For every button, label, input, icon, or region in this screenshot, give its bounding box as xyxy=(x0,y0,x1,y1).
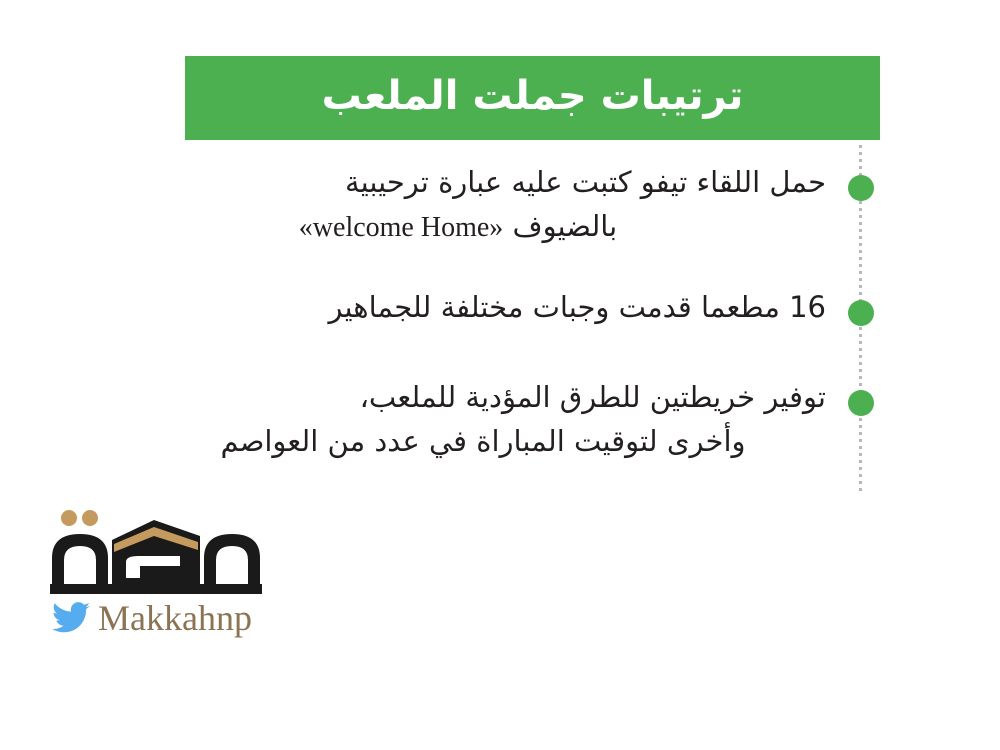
bullet-2-line-1: 16 مطعما قدمت وجبات مختلفة للجماهير xyxy=(150,285,826,329)
header-bar: ترتيبات جملت الملعب xyxy=(185,56,880,140)
twitter-handle: Makkahnp xyxy=(52,600,252,636)
list-item: 16 مطعما قدمت وجبات مختلفة للجماهير xyxy=(150,285,826,329)
brand-logo-block: Makkahnp xyxy=(42,500,282,650)
bullet-1-latin-phrase: «welcome Home» xyxy=(299,206,504,250)
makkah-kaaba-logo-icon xyxy=(42,500,270,600)
list-item: حمل اللقاء تيفو كتبت عليه عبارة ترحيبية … xyxy=(150,160,826,250)
twitter-bird-icon xyxy=(52,602,90,634)
list-item: توفير خريطتين للطرق المؤدية للملعب، وأخر… xyxy=(150,375,826,463)
twitter-handle-text: Makkahnp xyxy=(98,600,252,636)
infographic-canvas: ترتيبات جملت الملعب حمل اللقاء تيفو كتبت… xyxy=(0,0,1000,750)
bullet-3-line-1: توفير خريطتين للطرق المؤدية للملعب، xyxy=(150,375,826,419)
timeline-dot-2 xyxy=(848,300,874,326)
bullet-1-line-2: بالضيوف «welcome Home» xyxy=(150,204,826,250)
bullet-1-line-2-arabic: بالضيوف xyxy=(513,209,618,243)
bullet-1-line-1: حمل اللقاء تيفو كتبت عليه عبارة ترحيبية xyxy=(150,160,826,204)
bullet-3-line-2: وأخرى لتوقيت المباراة في عدد من العواصم xyxy=(150,419,826,463)
page-title: ترتيبات جملت الملعب xyxy=(322,76,744,120)
timeline-dot-1 xyxy=(848,175,874,201)
timeline-dot-3 xyxy=(848,390,874,416)
